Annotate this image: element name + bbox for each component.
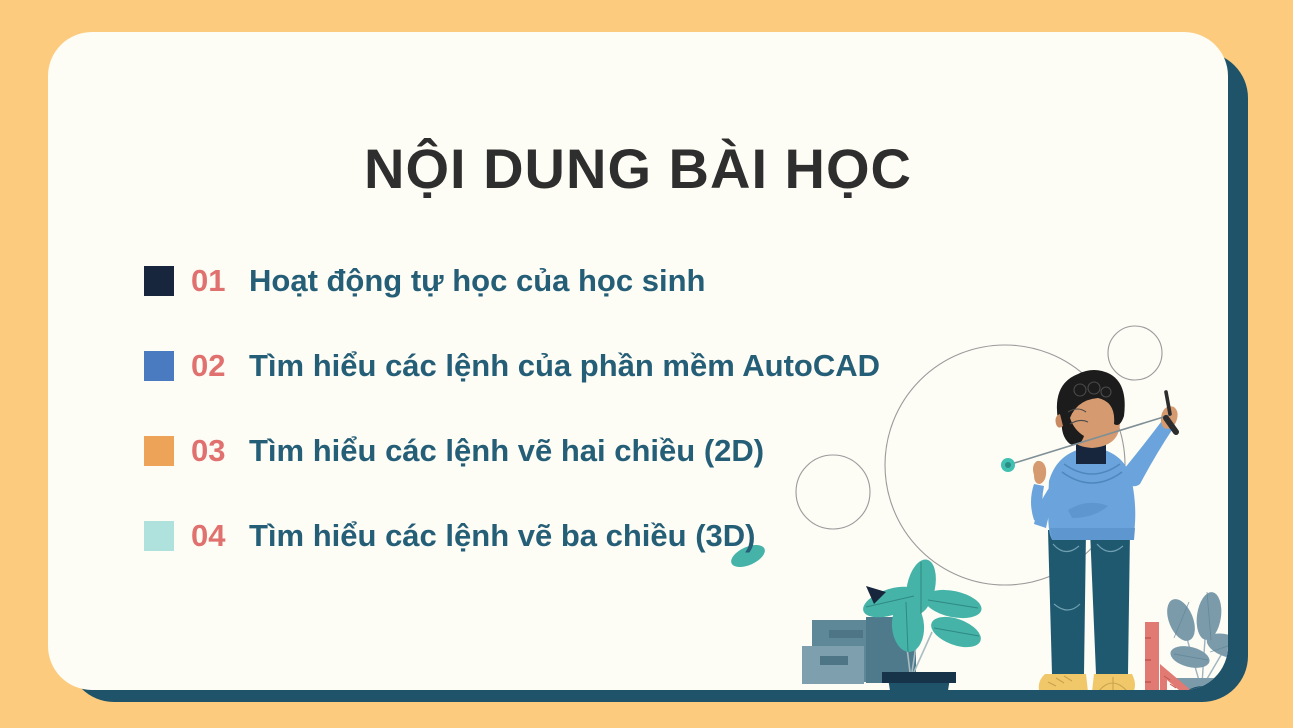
- item-label: Tìm hiểu các lệnh của phần mềm AutoCAD: [249, 348, 880, 384]
- item-number: 01: [191, 263, 245, 299]
- item-number: 04: [191, 518, 245, 554]
- item-number: 02: [191, 348, 245, 384]
- bullet-square-03: [144, 436, 174, 466]
- list-item[interactable]: 01 Hoạt động tự học của học sinh: [144, 238, 1144, 323]
- bullet-square-02: [144, 351, 174, 381]
- content-card: NỘI DUNG BÀI HỌC 01 Hoạt động tự học của…: [48, 32, 1228, 690]
- item-number: 03: [191, 433, 245, 469]
- drafting-tools: [1145, 591, 1228, 690]
- page-title: NỘI DUNG BÀI HỌC: [48, 136, 1228, 201]
- list-item[interactable]: 02 Tìm hiểu các lệnh của phần mềm AutoCA…: [144, 323, 1144, 408]
- item-label: Hoạt động tự học của học sinh: [249, 263, 705, 299]
- bullet-square-01: [144, 266, 174, 296]
- list-item[interactable]: 04 Tìm hiểu các lệnh vẽ ba chiều (3D): [144, 493, 1144, 578]
- item-label: Tìm hiểu các lệnh vẽ ba chiều (3D): [249, 518, 755, 554]
- item-label: Tìm hiểu các lệnh vẽ hai chiều (2D): [249, 433, 764, 469]
- list-item[interactable]: 03 Tìm hiểu các lệnh vẽ hai chiều (2D): [144, 408, 1144, 493]
- bullet-square-04: [144, 521, 174, 551]
- contents-list: 01 Hoạt động tự học của học sinh 02 Tìm …: [144, 238, 1144, 578]
- slide-root: NỘI DUNG BÀI HỌC 01 Hoạt động tự học của…: [0, 0, 1293, 728]
